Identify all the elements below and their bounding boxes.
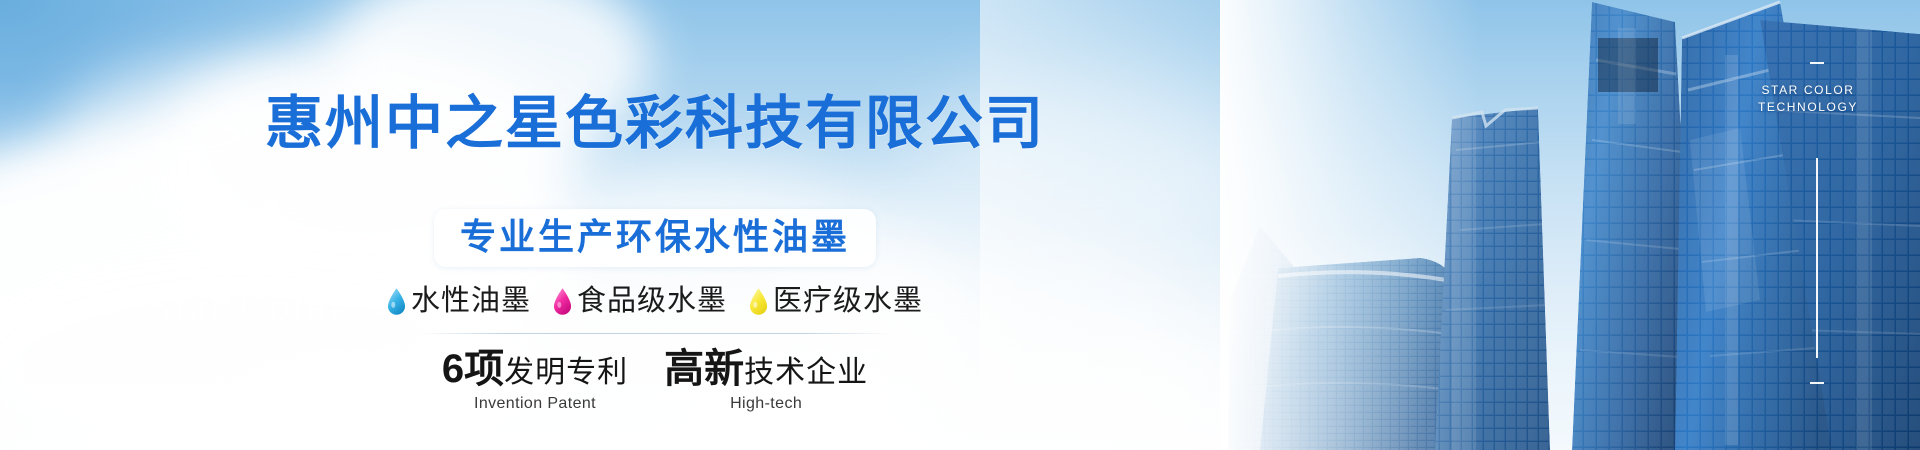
badge-light-text: 发明专利 [504,356,628,389]
accent-tick-bottom [1810,382,1824,384]
subtitle-pill: 专业生产环保水性油墨 [434,209,876,267]
badge-invention-patent: 6项发明专利 Invention Patent [442,349,628,413]
accent-tick-top [1810,62,1824,64]
section-divider [420,333,890,334]
badge-main-text: 高新技术企业 [664,349,868,391]
product-label: 食品级水墨 [577,287,727,316]
product-label: 水性油墨 [411,287,531,316]
building-brand-line1: STAR COLOR [1748,82,1868,99]
accent-vertical-rule [1816,158,1818,358]
product-item: 水性油墨 [387,287,531,316]
product-item: 食品级水墨 [553,287,727,316]
company-title: 惠州中之星色彩科技有限公司 [265,95,1045,153]
subtitle-text: 专业生产环保水性油墨 [460,216,850,257]
badge-main-text: 6项发明专利 [442,349,628,391]
badge-strong-text: 高新 [664,347,744,391]
building-brand-label: STAR COLOR TECHNOLOGY [1748,82,1868,117]
badge-light-text: 技术企业 [744,356,868,389]
product-label: 医疗级水墨 [773,287,923,316]
product-list: 水性油墨 食品级水墨 [387,287,923,316]
droplet-icon [387,288,406,315]
badge-strong-text: 6项 [442,347,504,391]
badge-high-tech: 高新技术企业 High-tech [664,349,868,413]
badge-subtitle: Invention Patent [442,395,628,413]
badge-subtitle: High-tech [664,395,868,413]
skyscraper-photo: STAR COLOR TECHNOLOGY [1220,0,1920,450]
droplet-icon [749,288,768,315]
building-brand-line2: TECHNOLOGY [1748,99,1868,116]
credential-badges: 6项发明专利 Invention Patent 高新技术企业 High-tech [442,349,868,413]
banner-content: 惠州中之星色彩科技有限公司 专业生产环保水性油墨 水性油 [0,0,1310,450]
droplet-icon [553,288,572,315]
hero-banner: Star Color [0,0,1920,450]
product-item: 医疗级水墨 [749,287,923,316]
